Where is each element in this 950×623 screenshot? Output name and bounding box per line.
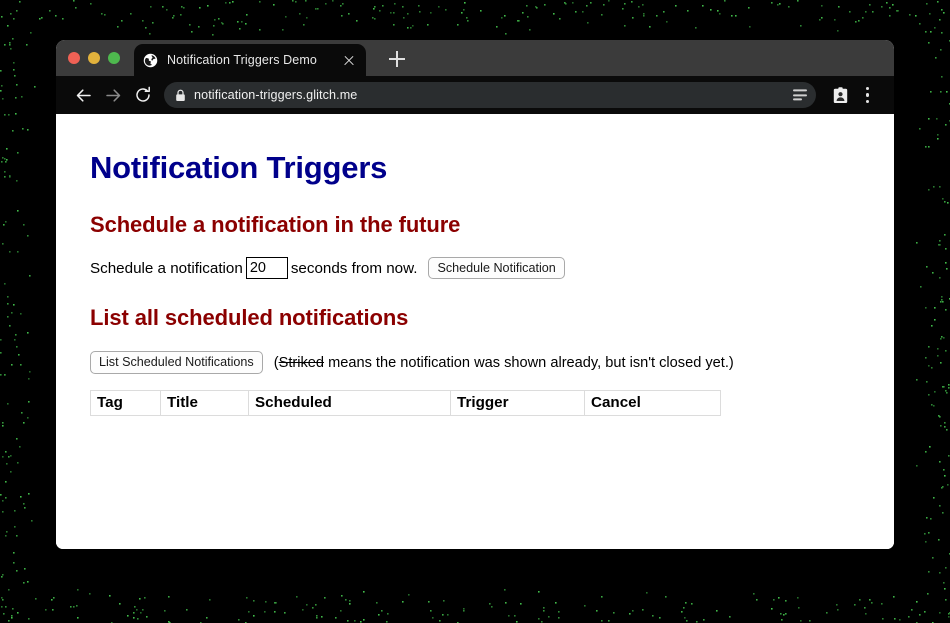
column-header-tag: Tag [91, 390, 161, 415]
column-header-cancel: Cancel [585, 390, 721, 415]
globe-icon [143, 53, 158, 68]
schedule-section-heading: Schedule a notification in the future [90, 212, 860, 238]
minimize-window-button[interactable] [88, 52, 100, 64]
back-button[interactable] [68, 80, 98, 110]
page-title: Notification Triggers [90, 150, 860, 186]
forward-button[interactable] [98, 80, 128, 110]
window-traffic-lights [68, 52, 120, 64]
browser-window: Notification Triggers Demo [56, 40, 894, 549]
address-bar[interactable]: notification-triggers.glitch.me [164, 82, 816, 108]
zoom-window-button[interactable] [108, 52, 120, 64]
lock-icon [175, 89, 186, 102]
browser-menu-button[interactable] [854, 81, 882, 109]
browser-tab-active[interactable]: Notification Triggers Demo [134, 44, 366, 76]
schedule-form-row: Schedule a notification seconds from now… [90, 257, 860, 279]
schedule-text-after: seconds from now. [291, 260, 418, 277]
reload-button[interactable] [128, 80, 158, 110]
kebab-menu-icon [866, 87, 870, 104]
tab-title: Notification Triggers Demo [167, 53, 332, 67]
reader-list-icon[interactable] [793, 89, 807, 100]
table-header-row: Tag Title Scheduled Trigger Cancel [91, 390, 721, 415]
schedule-text-before: Schedule a notification [90, 260, 243, 277]
hint-rest-text: means the notification was shown already… [324, 355, 734, 371]
reload-icon [134, 86, 152, 104]
address-bar-url: notification-triggers.glitch.me [194, 88, 357, 102]
table-header: Tag Title Scheduled Trigger Cancel [91, 390, 721, 415]
back-arrow-icon [75, 87, 92, 104]
profile-card-icon [831, 86, 850, 105]
column-header-title: Title [161, 390, 249, 415]
close-tab-button[interactable] [341, 52, 357, 68]
tab-strip: Notification Triggers Demo [56, 40, 894, 76]
schedule-notification-button[interactable]: Schedule Notification [428, 257, 564, 279]
column-header-trigger: Trigger [451, 390, 585, 415]
new-tab-button[interactable] [386, 48, 408, 70]
hint-strike-word: Striked [279, 355, 324, 371]
profile-button[interactable] [826, 81, 854, 109]
close-window-button[interactable] [68, 52, 80, 64]
scheduled-notifications-table: Tag Title Scheduled Trigger Cancel [90, 390, 721, 416]
list-section-heading: List all scheduled notifications [90, 305, 860, 331]
forward-arrow-icon [105, 87, 122, 104]
list-scheduled-notifications-button[interactable]: List Scheduled Notifications [90, 351, 263, 373]
seconds-input[interactable] [246, 257, 288, 279]
column-header-scheduled: Scheduled [249, 390, 451, 415]
browser-toolbar: notification-triggers.glitch.me [56, 76, 894, 114]
list-controls-row: List Scheduled Notifications (Striked me… [90, 351, 860, 373]
strike-legend-hint: (Striked means the notification was show… [274, 355, 734, 371]
page-viewport: Notification Triggers Schedule a notific… [56, 114, 894, 549]
